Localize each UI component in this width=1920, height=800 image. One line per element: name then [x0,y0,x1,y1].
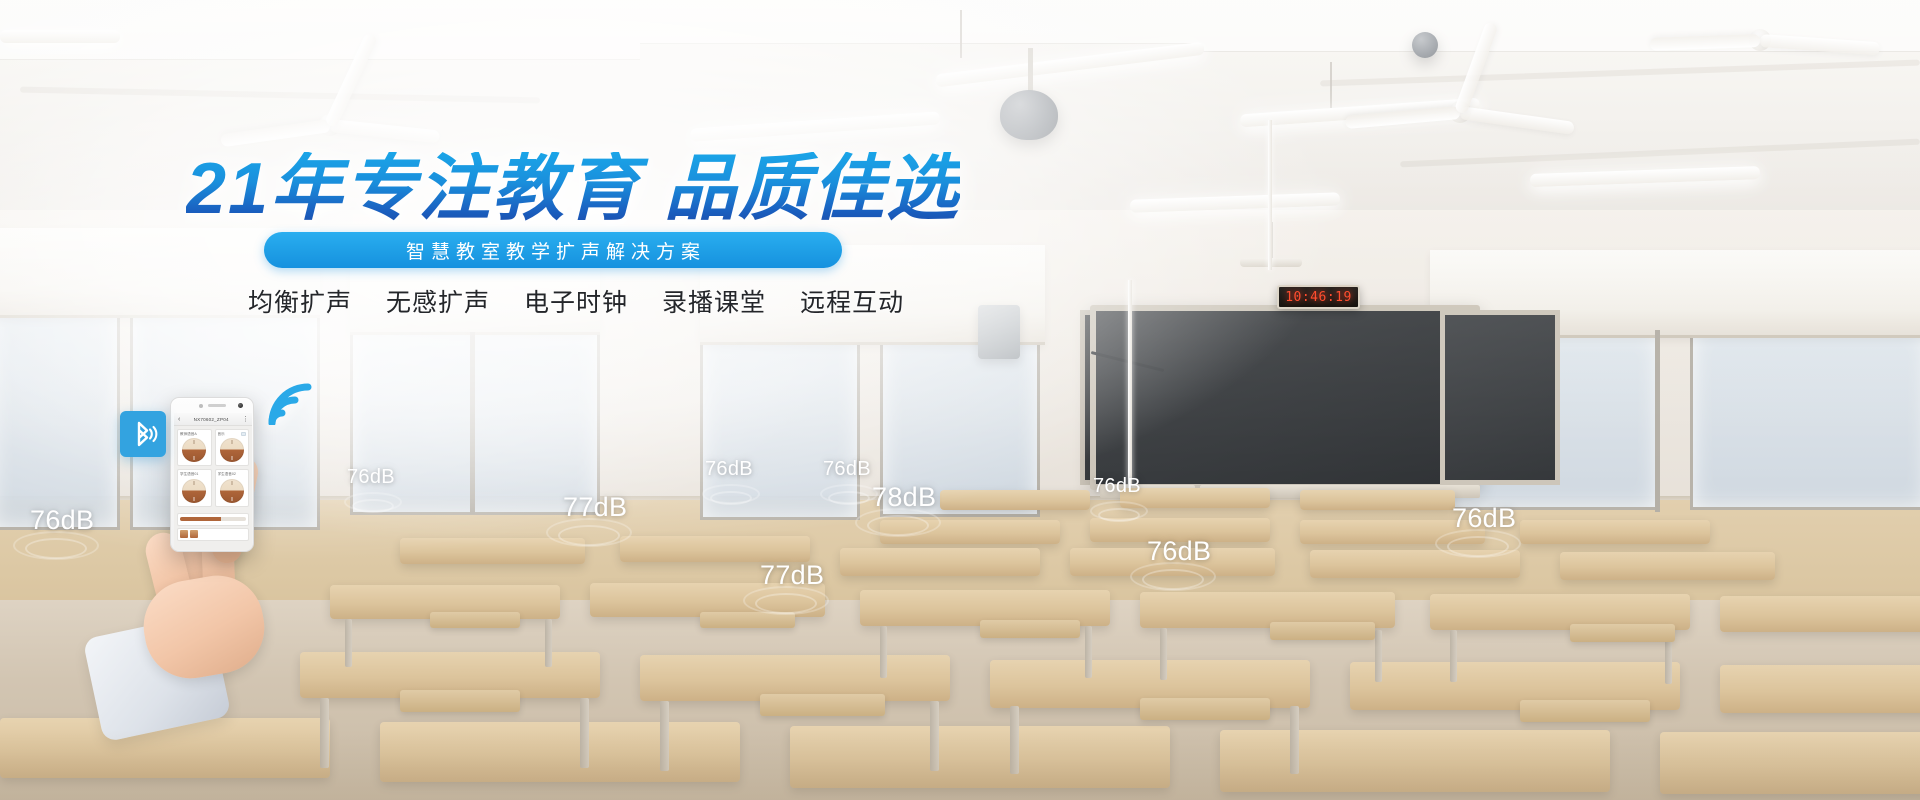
desk [1070,548,1275,576]
master-volume-slider[interactable] [177,513,249,526]
preset-button[interactable] [190,530,198,538]
desk [1090,518,1270,542]
window-mullion [1655,330,1660,512]
chair [1140,698,1270,720]
phone-screen[interactable]: ‹ NX70602_ZP04 ⋮ 教师语音A音乐学生语音01学生语音02 [174,413,252,550]
preset-row[interactable] [177,528,249,541]
desk [1120,488,1270,508]
desk-leg [1160,628,1167,680]
desk [1520,520,1710,544]
bluetooth-icon [126,417,160,451]
desk-leg [1290,706,1299,774]
ceiling-panel [640,0,1200,44]
desk [1560,552,1775,580]
microphone-pole [1128,280,1132,495]
channel-card-grid: 教师语音A音乐学生语音01学生语音02 [174,426,252,510]
feature-item: 录播课堂 [662,283,766,319]
subtitle-text: 智慧教室教学扩声解决方案 [400,237,706,264]
chair [760,694,885,716]
channel-status-badge [241,432,246,436]
clock-time: 10:46:19 [1285,290,1352,305]
desk-leg [1450,630,1457,682]
chair [400,690,520,712]
microphone-pole [1268,120,1272,270]
window [1690,325,1920,510]
back-arrow-icon[interactable]: ‹ [178,416,180,423]
page-title: 21年专注教育品质佳选 [186,152,960,228]
slider-track[interactable] [180,517,246,521]
desk-leg [1010,706,1019,774]
desk [380,722,740,782]
chair [1270,622,1375,640]
desk [940,490,1090,510]
banner-stage: 10:46:19 76dB76dB77dB76dB76dB78dB77dB76d… [0,0,1920,800]
wifi-signal-icon [266,381,314,425]
channel-label: 学生语音01 [180,472,209,476]
desk-leg [930,701,939,771]
smartphone[interactable]: ‹ NX70602_ZP04 ⋮ 教师语音A音乐学生语音01学生语音02 [170,397,254,552]
wall-control-panel [978,305,1020,359]
volume-knob[interactable] [182,438,206,462]
volume-knob[interactable] [220,479,244,503]
desk [880,520,1060,544]
bluetooth-badge [120,411,166,457]
digital-clock: 10:46:19 [1277,285,1360,309]
earpiece-icon [208,404,226,407]
desk [1310,550,1520,578]
desk-leg [1085,626,1092,678]
channel-label: 教师语音A [180,432,209,436]
blackboard-wing-right [1440,310,1560,485]
chair [1520,700,1650,722]
desk [1660,732,1920,794]
chair [430,612,520,628]
feature-item: 均衡扩声 [248,283,352,319]
front-camera-icon [238,403,243,408]
desk-leg [545,619,552,667]
feature-list: 均衡扩声无感扩声电子时钟录播课堂远程互动 [248,283,904,319]
chair [980,620,1080,638]
pendant-rod [1330,62,1332,108]
speaker-stem [1028,48,1033,92]
preset-button[interactable] [180,530,188,538]
desk-leg [880,626,887,678]
ceiling-speaker [1000,90,1058,140]
window-mullion [470,332,475,514]
feature-item: 无感扩声 [386,283,490,319]
channel-card[interactable]: 学生语音02 [215,469,250,506]
channel-label: 学生语音02 [218,472,247,476]
subtitle-pill: 智慧教室教学扩声解决方案 [264,232,842,268]
desk-leg [660,701,669,771]
volume-knob[interactable] [220,438,244,462]
desk [1300,490,1455,510]
overflow-menu-icon[interactable]: ⋮ [242,416,248,423]
channel-card[interactable]: 学生语音01 [177,469,212,506]
ceiling-speaker [1412,32,1438,58]
feature-item: 电子时钟 [524,283,628,319]
desk [620,536,810,562]
desk-leg [1375,630,1382,682]
headline-part-2: 品质佳选 [664,149,960,229]
desk [1720,665,1920,713]
volume-knob[interactable] [182,479,206,503]
blackboard [1090,305,1480,490]
channel-card[interactable]: 教师语音A [177,429,212,466]
feature-item: 远程互动 [800,283,904,319]
desk-leg [580,698,589,768]
desk [1220,730,1610,792]
pendant-rod [960,10,962,58]
pendant-light [0,30,120,43]
app-header: ‹ NX70602_ZP04 ⋮ [174,413,252,426]
channel-card[interactable]: 音乐 [215,429,250,466]
app-title: NX70602_ZP04 [183,417,239,422]
chair [1570,624,1675,642]
phone-earpiece-area [171,398,253,413]
desk [840,548,1040,576]
desk [1720,596,1920,632]
proximity-sensor-icon [199,404,203,408]
desk [400,538,585,564]
desk [1300,520,1485,544]
headline-part-1: 21年专注教育 [186,149,640,229]
chair [700,612,795,628]
desk [790,726,1170,788]
